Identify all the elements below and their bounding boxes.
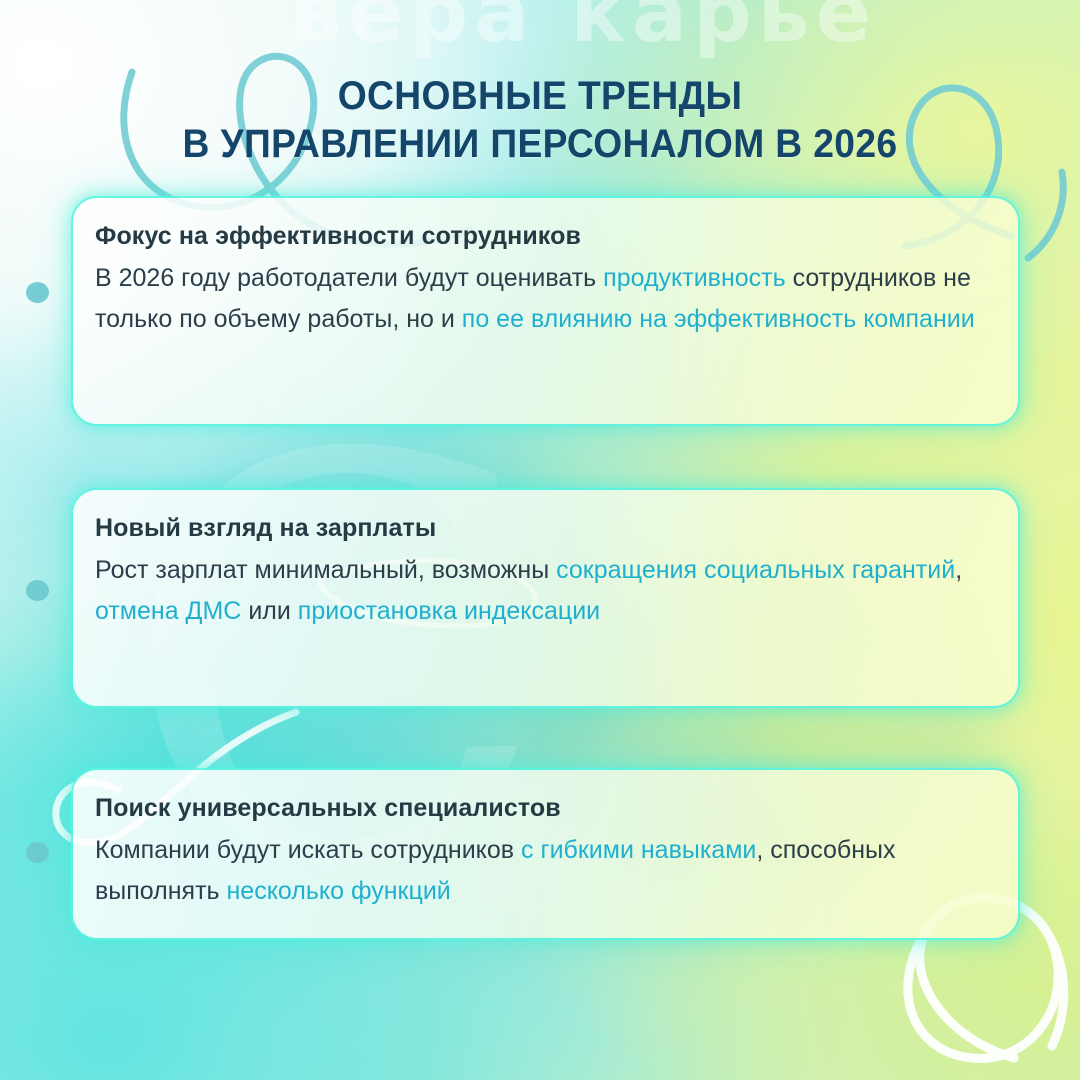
trend-card-2: Новый взгляд на зарплаты Рост зарплат ми…: [73, 490, 1018, 706]
trend-card-3-body: Компании будут искать сотрудников с гибк…: [95, 830, 992, 912]
plain-text: В 2026 году работодатели будут оценивать: [95, 264, 603, 292]
trend-card-3: Поиск универсальных специалистов Компани…: [73, 770, 1018, 938]
page-title-line-2: В УПРАВЛЕНИИ ПЕРСОНАЛОМ В 2026: [38, 120, 1042, 168]
plain-text: Компании будут искать сотрудников: [95, 836, 521, 864]
accent-text: по ее влиянию на эффективность компании: [462, 305, 975, 333]
trend-card-3-heading: Поиск универсальных специалистов: [95, 792, 992, 824]
poster-canvas: C вера карье ОСНОВНЫЕ ТРЕНДЫ В УПРАВЛЕНИ…: [0, 0, 1080, 1080]
page-title: ОСНОВНЫЕ ТРЕНДЫ В УПРАВЛЕНИИ ПЕРСОНАЛОМ …: [38, 72, 1042, 168]
accent-text: с гибкими навыками: [521, 836, 756, 864]
bullet-dot-3: [26, 842, 49, 863]
plain-text: ,: [955, 556, 962, 584]
bullet-dot-2: [26, 580, 49, 601]
plain-text: или: [241, 597, 297, 625]
trend-card-2-body: Рост зарплат минимальный, возможны сокра…: [95, 550, 992, 632]
page-title-line-1: ОСНОВНЫЕ ТРЕНДЫ: [38, 72, 1042, 120]
accent-text: сокращения социальных гарантий: [556, 556, 955, 584]
accent-text: продуктивность: [603, 264, 785, 292]
accent-text: несколько функций: [227, 877, 451, 905]
plain-text: Рост зарплат минимальный, возможны: [95, 556, 556, 584]
trend-card-1: Фокус на эффективности сотрудников В 202…: [73, 198, 1018, 424]
bullet-dot-1: [26, 282, 49, 303]
trend-card-1-body: В 2026 году работодатели будут оценивать…: [95, 258, 992, 340]
accent-text: отмена ДМС: [95, 597, 241, 625]
trend-card-2-heading: Новый взгляд на зарплаты: [95, 512, 992, 544]
trend-card-1-heading: Фокус на эффективности сотрудников: [95, 220, 992, 252]
accent-text: приостановка индексации: [298, 597, 600, 625]
